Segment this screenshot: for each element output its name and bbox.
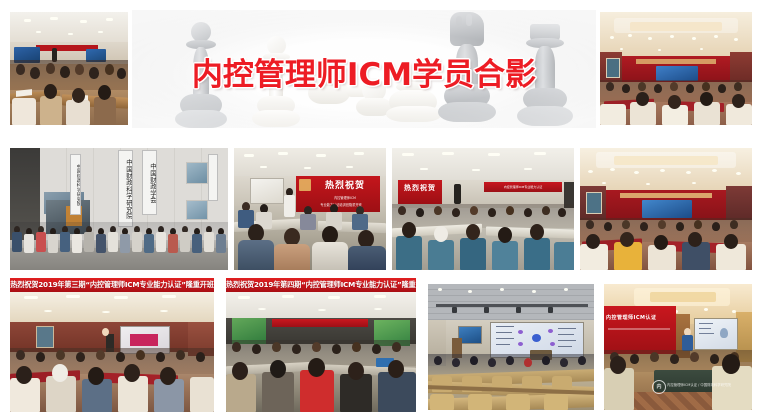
screen-congrats-title-2: 热烈祝贺 (400, 184, 440, 191)
backdrop-text: 内控管理师ICM认证 (606, 312, 674, 324)
banner-session-3: 热烈祝贺2019年第三期“内控管理师ICM专业能力认证”隆重开班 (10, 278, 214, 292)
screen-red-congrats-2: 热烈祝贺 (398, 180, 442, 204)
wall-banner-text: 内控管理师ICM专业能力认证 (484, 182, 562, 192)
photo-session-4: 热烈祝贺2019年第四期“内控管理师ICM专业能力认证”隆重开班 (226, 278, 416, 412)
poster-canvas: 内控管理师ICM学员合影 (0, 0, 760, 420)
screen-congrats-sub1: 内控管理师ICM (314, 196, 376, 200)
building-sign-3: 中国财政学会 (142, 150, 157, 215)
watermark-text: 内控管理师ICM认证 / 中国财政科学研究院 (667, 383, 731, 387)
photo-conference-hall-wide (580, 148, 752, 270)
photo-classroom-red-screen: 热烈祝贺 内控管理师ICM 专业能力认证培训班隆重开班 (234, 148, 386, 270)
watermark-logo: 内 (652, 380, 666, 394)
screen-congrats-sub2: 专业能力认证培训班隆重开班 (306, 203, 376, 207)
photo-banquet-hall-red-stage (600, 12, 752, 125)
banner-session-4: 热烈祝贺2019年第四期“内控管理师ICM专业能力认证”隆重开班 (226, 278, 416, 292)
chess-banner: 内控管理师ICM学员合影 (132, 10, 596, 128)
building-sign-1: 中国财政科学研究院 (70, 154, 81, 215)
photo-session-3: 热烈祝贺2019年第三期“内控管理师ICM专业能力认证”隆重开班 (10, 278, 214, 412)
photo-classroom-blue-screen (10, 12, 128, 125)
photo-group-academy: 中国财政科学研究院 中国财政科学研究院 中国财政学会 (10, 148, 228, 270)
screen-congrats-title: 热烈祝贺 (314, 182, 376, 191)
building-sign-4 (208, 154, 218, 201)
photo-classroom-red-banner: 热烈祝贺 内控管理师ICM专业能力认证 (392, 148, 574, 270)
photo-lecture-hall (428, 284, 594, 410)
building-sign-2: 中国财政科学研究院 (118, 150, 133, 227)
page-title: 内控管理师ICM学员合影 (132, 60, 596, 91)
photo-red-backdrop-room: 内控管理师ICM认证 内 内控管理师ICM认证 / 中国财政科学 (604, 284, 752, 410)
